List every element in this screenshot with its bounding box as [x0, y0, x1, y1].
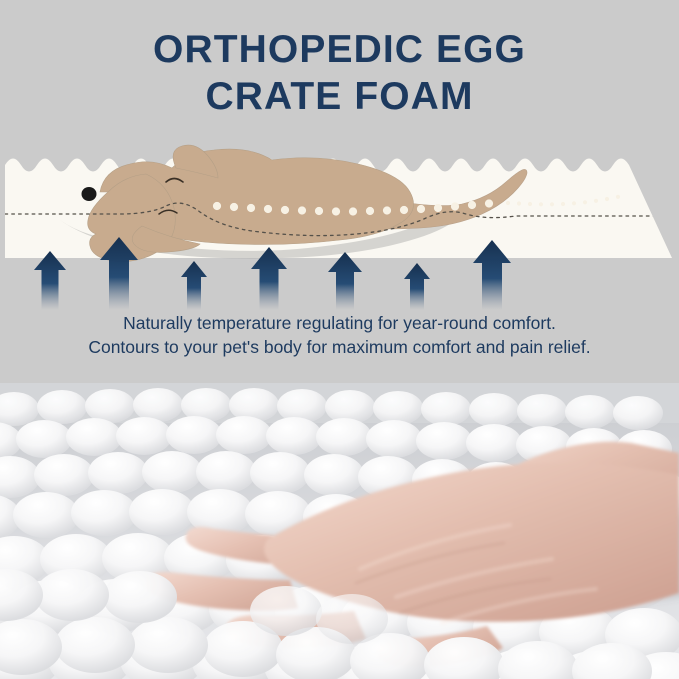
support-arrow: [404, 263, 430, 310]
caption-line-1: Naturally temperature regulating for yea…: [0, 312, 679, 336]
title-line-1: ORTHOPEDIC EGG: [0, 26, 679, 73]
feature-caption: Naturally temperature regulating for yea…: [0, 312, 679, 359]
infographic-panel: ORTHOPEDIC EGG CRATE FOAM: [0, 0, 679, 383]
support-arrow: [181, 261, 207, 310]
foam-hand-photo: [0, 383, 679, 679]
product-feature-poster: ORTHOPEDIC EGG CRATE FOAM: [0, 0, 679, 679]
title-line-2: CRATE FOAM: [0, 73, 679, 120]
dog-on-foam-illustration: [0, 130, 679, 310]
dog-nose: [82, 187, 97, 201]
support-arrow: [328, 252, 362, 310]
page-title: ORTHOPEDIC EGG CRATE FOAM: [0, 26, 679, 120]
caption-line-2: Contours to your pet's body for maximum …: [0, 336, 679, 360]
support-arrow: [34, 251, 66, 310]
